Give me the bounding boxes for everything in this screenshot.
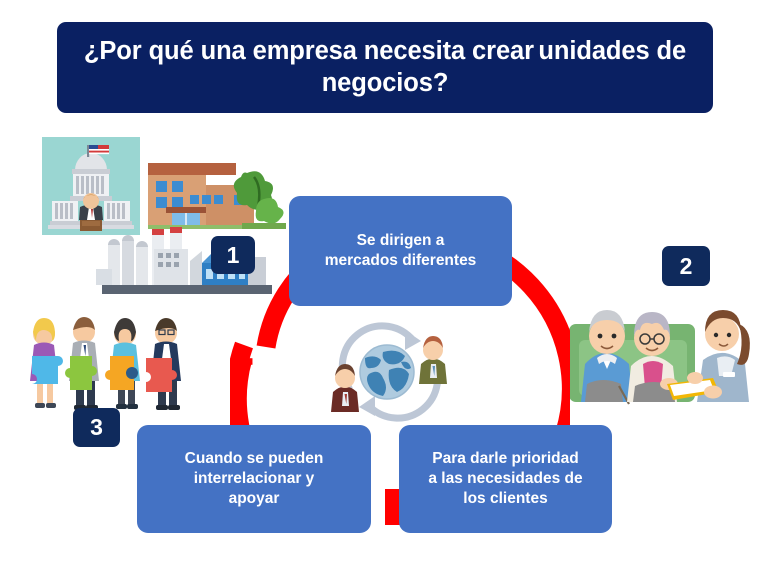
page-title: ¿Por qué una empresa necesita crear unid… bbox=[75, 36, 695, 98]
callout-1-line-1: Se dirigen a bbox=[325, 231, 477, 251]
step-badge-2: 2 bbox=[662, 246, 710, 286]
callout-3-line-1: Cuando se pueden bbox=[185, 449, 324, 469]
cycle-callout-3[interactable]: Cuando se pueden interrelacionar y apoya… bbox=[137, 425, 371, 533]
slide-title-banner: ¿Por qué una empresa necesita crear unid… bbox=[57, 22, 713, 113]
cycle-callout-1-text: Se dirigen a mercados diferentes bbox=[325, 231, 477, 271]
title-line-1: ¿Por qué una empresa necesita crear bbox=[84, 37, 534, 65]
callout-3-line-3: apoyar bbox=[185, 489, 324, 509]
callout-2-line-2: a las necesidades de bbox=[428, 469, 582, 489]
cycle-callout-2-text: Para darle prioridad a las necesidades d… bbox=[428, 449, 582, 508]
elderly-couple-advisor-illustration bbox=[563, 288, 763, 418]
callout-2-line-1: Para darle prioridad bbox=[428, 449, 582, 469]
callout-2-line-3: los clientes bbox=[428, 489, 582, 509]
callout-1-line-2: mercados diferentes bbox=[325, 251, 477, 271]
callout-3-line-2: interrelacionar y bbox=[185, 469, 324, 489]
step-badge-3: 3 bbox=[73, 408, 120, 447]
cycle-callout-3-text: Cuando se pueden interrelacionar y apoya… bbox=[185, 449, 324, 508]
slide-canvas: ¿Por qué una empresa necesita crear unid… bbox=[0, 0, 768, 576]
global-business-cycle-icon bbox=[325, 312, 455, 427]
step-badge-1: 1 bbox=[211, 236, 255, 274]
cycle-callout-2[interactable]: Para darle prioridad a las necesidades d… bbox=[399, 425, 612, 533]
cycle-callout-1[interactable]: Se dirigen a mercados diferentes bbox=[289, 196, 512, 306]
